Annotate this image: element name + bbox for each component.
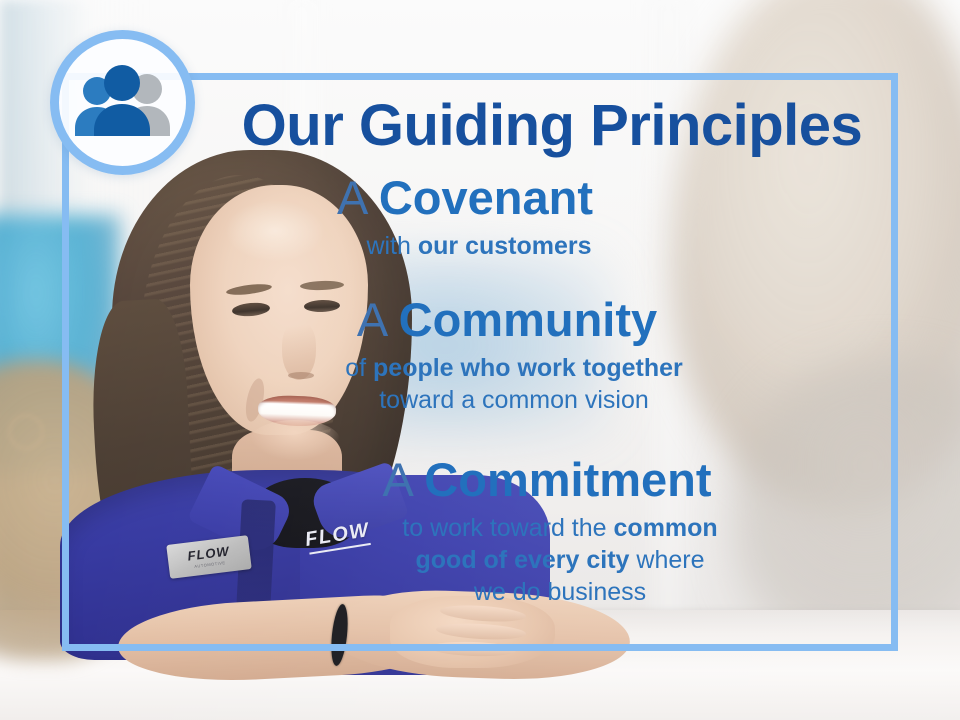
page-title: Our Guiding Principles: [222, 97, 882, 155]
principle-subtext-line: of people who work together: [166, 352, 862, 384]
principle-article: A: [337, 171, 379, 224]
principle-subtext-line: toward a common vision: [166, 384, 862, 416]
principle-keyword: Commitment: [424, 453, 711, 506]
principle-article: A: [382, 453, 424, 506]
principle-subtext-line: good of every city where: [258, 544, 862, 576]
principle-keyword: Community: [399, 293, 658, 346]
principle-headline: A Commitment: [62, 455, 862, 505]
poster-text-block: Our Guiding Principles A Covenant with o…: [62, 73, 898, 651]
principle-commitment: A Commitment to work toward the common g…: [62, 455, 862, 608]
principle-headline: A Covenant: [62, 173, 862, 223]
poster-canvas: FLOW AUTOMOTIVE FLOW: [0, 0, 960, 720]
principle-subtext-line: we do business: [258, 576, 862, 608]
principle-covenant: A Covenant with our customers: [62, 173, 862, 262]
principle-subtext: with our customers: [62, 230, 862, 262]
principle-subtext: to work toward the common good of every …: [62, 512, 862, 608]
principle-article: A: [357, 293, 399, 346]
principle-subtext: of people who work together toward a com…: [62, 352, 862, 416]
principle-headline: A Community: [62, 295, 862, 345]
principle-subtext-line: to work toward the common: [258, 512, 862, 544]
principle-keyword: Covenant: [379, 171, 593, 224]
principle-subtext-line: with our customers: [366, 232, 591, 260]
principle-community: A Community of people who work together …: [62, 295, 862, 416]
